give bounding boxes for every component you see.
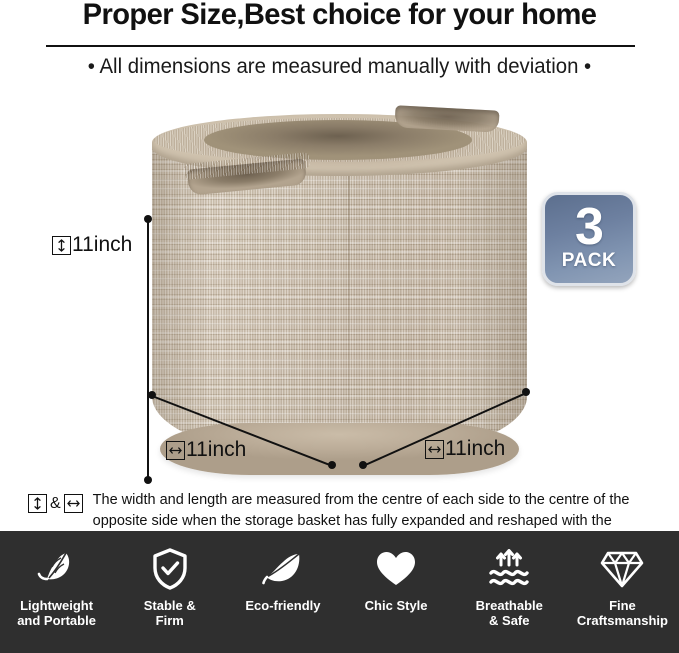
three-pack-badge: 3 PACK bbox=[542, 192, 636, 286]
dimension-value-width-right: 11inch bbox=[445, 437, 505, 461]
shield-check-icon bbox=[150, 547, 190, 591]
dimension-label-height: 11inch bbox=[52, 233, 132, 257]
height-guide-line bbox=[147, 218, 149, 480]
height-arrow-icon bbox=[52, 236, 71, 255]
feature-label-chic: Chic Style bbox=[365, 598, 428, 613]
feature-item-chic: Chic Style bbox=[340, 531, 453, 613]
dimension-label-width-right: 11inch bbox=[425, 437, 505, 461]
footnote-separator: & bbox=[50, 495, 61, 513]
feature-label-lightweight: Lightweight and Portable bbox=[17, 598, 96, 629]
feature-bar: Lightweight and Portable Stable & Firm E… bbox=[0, 531, 679, 653]
feature-item-stable: Stable & Firm bbox=[113, 531, 226, 629]
diamond-icon bbox=[600, 547, 644, 591]
basket-corner-edge bbox=[348, 142, 350, 438]
feature-label-stable: Stable & Firm bbox=[144, 598, 196, 629]
dimension-value-width-left: 11inch bbox=[186, 438, 246, 462]
feature-label-eco: Eco-friendly bbox=[245, 598, 320, 613]
height-guide-dot-bottom bbox=[144, 476, 152, 484]
dimension-label-width-left: 11inch bbox=[166, 438, 246, 462]
page-title: Proper Size,Best choice for your home bbox=[10, 0, 669, 32]
dimension-value-height: 11inch bbox=[72, 233, 132, 257]
feature-item-breathable: Breathable & Safe bbox=[453, 531, 566, 629]
leaf-icon bbox=[261, 547, 305, 591]
breathable-icon bbox=[485, 547, 533, 591]
width-arrow-icon bbox=[425, 440, 444, 459]
product-infographic: Proper Size,Best choice for your home • … bbox=[0, 0, 679, 653]
footnote-icon-group: & bbox=[28, 494, 83, 513]
heart-icon bbox=[375, 547, 417, 591]
feature-item-craftsmanship: Fine Craftsmanship bbox=[566, 531, 679, 629]
feature-item-lightweight: Lightweight and Portable bbox=[0, 531, 113, 629]
pack-count: 3 bbox=[575, 205, 603, 251]
feather-icon bbox=[35, 547, 79, 591]
width-left-guide-dot-end bbox=[328, 461, 336, 469]
feature-label-craftsmanship: Fine Craftsmanship bbox=[577, 598, 668, 629]
width-left-guide-dot-start bbox=[148, 391, 156, 399]
page-subtitle: • All dimensions are measured manually w… bbox=[10, 55, 669, 79]
width-arrow-icon bbox=[64, 494, 83, 513]
header-divider bbox=[46, 45, 635, 47]
height-arrow-icon bbox=[28, 494, 47, 513]
width-right-guide-dot-start bbox=[359, 461, 367, 469]
width-arrow-icon bbox=[166, 441, 185, 460]
height-guide-dot-top bbox=[144, 215, 152, 223]
product-stage: 3 PACK bbox=[0, 96, 679, 486]
basket-shadow-right bbox=[457, 142, 527, 460]
pack-word: PACK bbox=[562, 251, 616, 270]
width-right-guide-dot-end bbox=[522, 388, 530, 396]
feature-label-breathable: Breathable & Safe bbox=[476, 598, 543, 629]
feature-item-eco: Eco-friendly bbox=[226, 531, 339, 613]
